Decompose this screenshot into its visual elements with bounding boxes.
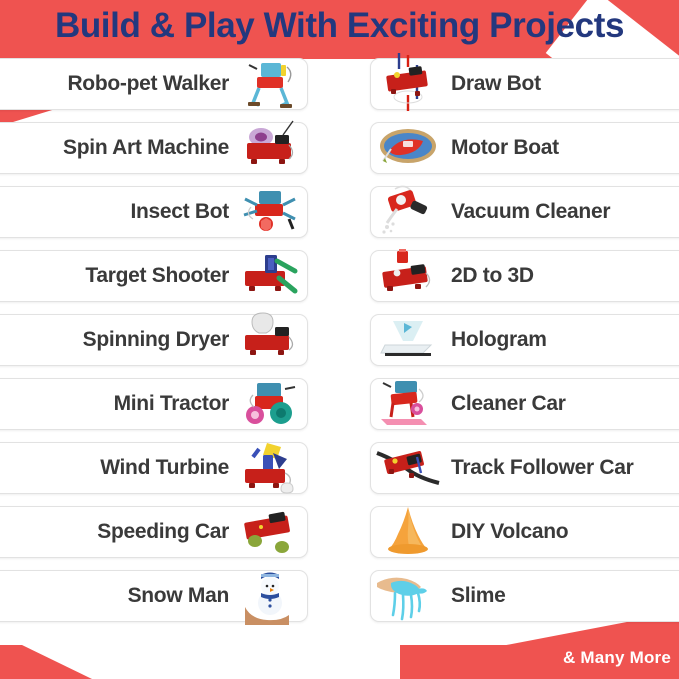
project-label: Motor Boat (451, 136, 559, 160)
project-label: Track Follower Car (451, 456, 634, 480)
project-card[interactable]: DIY Volcano (370, 506, 679, 558)
track-follower-car-icon (377, 439, 439, 497)
page-title: Build & Play With Exciting Projects (0, 6, 679, 54)
project-card[interactable]: Spin Art Machine (0, 122, 308, 174)
mini-tractor-icon (239, 375, 301, 433)
project-card[interactable]: Hologram (370, 314, 679, 366)
project-label: Hologram (451, 328, 547, 352)
project-label: Robo-pet Walker (67, 72, 229, 96)
project-card[interactable]: Speeding Car (0, 506, 308, 558)
project-card[interactable]: Robo-pet Walker (0, 58, 308, 110)
project-label: Vacuum Cleaner (451, 200, 610, 224)
project-card[interactable]: Draw Bot (370, 58, 679, 110)
project-label: Cleaner Car (451, 392, 566, 416)
many-more-label: & Many More (563, 648, 671, 668)
promo-graphic: Build & Play With Exciting Projects Robo… (0, 0, 679, 679)
hologram-icon (377, 311, 439, 369)
footer-white-wedge-left (0, 645, 400, 679)
project-card[interactable]: Mini Tractor (0, 378, 308, 430)
2d-to-3d-icon (377, 247, 439, 305)
wind-turbine-icon (239, 439, 301, 497)
project-label: Spinning Dryer (83, 328, 229, 352)
project-card[interactable]: Motor Boat (370, 122, 679, 174)
project-label: Speeding Car (97, 520, 229, 544)
spin-art-machine-icon (239, 119, 301, 177)
project-card[interactable]: Insect Bot (0, 186, 308, 238)
project-label: DIY Volcano (451, 520, 568, 544)
projects-left-column: Robo-pet WalkerSpin Art MachineInsect Bo… (0, 58, 308, 634)
insect-bot-icon (239, 183, 301, 241)
target-shooter-icon (239, 247, 301, 305)
project-card[interactable]: Vacuum Cleaner (370, 186, 679, 238)
snow-man-icon (239, 567, 301, 625)
projects-right-column: Draw BotMotor BoatVacuum Cleaner2D to 3D… (370, 58, 679, 634)
project-label: Snow Man (128, 584, 229, 608)
project-card[interactable]: Slime (370, 570, 679, 622)
slime-icon (377, 567, 439, 625)
project-label: Mini Tractor (114, 392, 229, 416)
project-card[interactable]: Cleaner Car (370, 378, 679, 430)
project-label: Wind Turbine (100, 456, 229, 480)
speeding-car-icon (239, 503, 301, 561)
project-label: Slime (451, 584, 506, 608)
spinning-dryer-icon (239, 311, 301, 369)
project-card[interactable]: 2D to 3D (370, 250, 679, 302)
project-card[interactable]: Spinning Dryer (0, 314, 308, 366)
project-label: 2D to 3D (451, 264, 534, 288)
projects-grid: Robo-pet WalkerSpin Art MachineInsect Bo… (0, 58, 679, 648)
vacuum-cleaner-icon (377, 183, 439, 241)
diy-volcano-icon (377, 503, 439, 561)
project-label: Draw Bot (451, 72, 541, 96)
cleaner-car-icon (377, 375, 439, 433)
robo-pet-walker-icon (239, 55, 301, 113)
project-card[interactable]: Target Shooter (0, 250, 308, 302)
project-label: Spin Art Machine (63, 136, 229, 160)
project-label: Insect Bot (130, 200, 229, 224)
project-label: Target Shooter (85, 264, 229, 288)
draw-bot-icon (377, 55, 439, 113)
project-card[interactable]: Wind Turbine (0, 442, 308, 494)
motor-boat-icon (377, 119, 439, 177)
project-card[interactable]: Snow Man (0, 570, 308, 622)
project-card[interactable]: Track Follower Car (370, 442, 679, 494)
